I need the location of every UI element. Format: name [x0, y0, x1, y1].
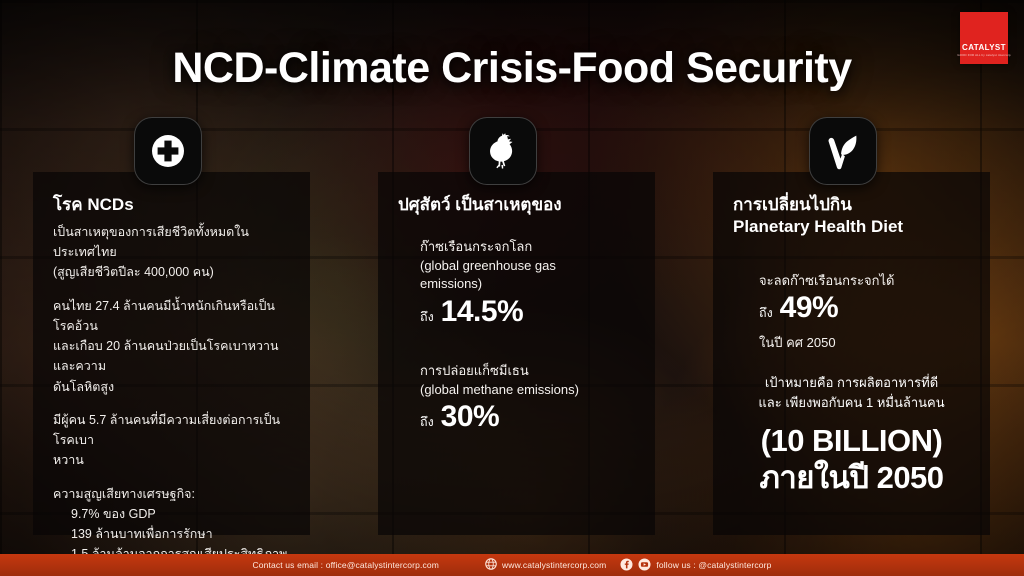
- reduction-year: ในปี คศ 2050: [759, 334, 970, 353]
- phd-heading: การเปลี่ยนไปกิน Planetary Health Diet: [733, 194, 970, 238]
- population-target: (10 BILLION) ภายในปี 2050: [733, 423, 970, 496]
- stat-emission-reduction: จะลดก๊าซเรือนกระจกได้ ถึง 49% ในปี คศ 20…: [733, 272, 970, 353]
- economic-loss-item-treatment: 139 ล้านบาทเพื่อการรักษา: [71, 524, 290, 544]
- vegan-leaf-icon: [823, 130, 863, 172]
- goal-line2: และ เพียงพอกับคน 1 หมื่นล้านคน: [733, 393, 970, 413]
- methane-prefix: ถึง: [420, 412, 434, 432]
- footer-website-text: www.catalystintercorp.com: [502, 560, 606, 570]
- youtube-icon[interactable]: [638, 558, 651, 573]
- footer-social[interactable]: follow us : @catalystintercorp: [620, 558, 771, 573]
- population-target-line2: ภายในปี 2050: [733, 460, 970, 497]
- economic-loss-label: ความสูญเสียทางเศรษฐกิจ:: [53, 484, 290, 504]
- ghg-label-line3: emissions): [420, 275, 635, 294]
- ncds-p1-line2: (สูญเสียชีวิตปีละ 400,000 คน): [53, 262, 290, 282]
- infographic-slide: CATALYST GOOD FOR ALL by catalyst interc…: [0, 0, 1024, 576]
- medical-cross-icon: [148, 131, 188, 171]
- stat-methane: การปล่อยแก็ซมีเธน (global methane emissi…: [398, 362, 635, 435]
- phd-heading-line1: การเปลี่ยนไปกิน: [733, 195, 852, 214]
- ncds-p2-line2: และเกือบ 20 ล้านคนป่วยเป็นโรคเบาหวานและค…: [53, 336, 290, 377]
- ncds-paragraph-3: มีผู้คน 5.7 ล้านคนที่มีความเสี่ยงต่อการเ…: [53, 410, 290, 471]
- methane-value: 30%: [441, 400, 500, 435]
- ghg-value: 14.5%: [441, 295, 524, 330]
- economic-loss-item-gdp: 9.7% ของ GDP: [71, 504, 290, 524]
- ncds-p2-line3: ดันโลหิตสูง: [53, 377, 290, 397]
- ncds-p2-line1: คนไทย 27.4 ล้านคนมีน้ำหนักเกินหรือเป็นโร…: [53, 296, 290, 337]
- ncds-paragraph-2: คนไทย 27.4 ล้านคนมีน้ำหนักเกินหรือเป็นโร…: [53, 296, 290, 397]
- footer-bar: Contact us email : office@catalystinterc…: [0, 554, 1024, 576]
- ncds-heading: โรค NCDs: [53, 194, 290, 216]
- ghg-label-line1: ก๊าซเรือนกระจกโลก: [420, 238, 635, 257]
- ncds-p3-line2: หวาน: [53, 450, 290, 470]
- population-target-line1: (10 BILLION): [733, 423, 970, 460]
- panel-livestock: ปศุสัตว์ เป็นสาเหตุของ ก๊าซเรือนกระจกโลก…: [378, 172, 655, 535]
- chicken-badge: [469, 117, 537, 185]
- footer-website[interactable]: www.catalystintercorp.com: [485, 558, 606, 572]
- panel-planetary-health-diet: การเปลี่ยนไปกิน Planetary Health Diet จะ…: [713, 172, 990, 535]
- footer-follow-text: follow us : @catalystintercorp: [656, 560, 771, 570]
- facebook-icon[interactable]: [620, 558, 633, 573]
- vegan-leaf-badge: [809, 117, 877, 185]
- reduction-value: 49%: [780, 291, 839, 326]
- livestock-heading: ปศุสัตว์ เป็นสาเหตุของ: [398, 194, 635, 216]
- methane-label-line1: การปล่อยแก็ซมีเธน: [420, 362, 635, 381]
- ncds-p1-line1: เป็นสาเหตุของการเสียชีวิตทั้งหมดในประเทศ…: [53, 222, 290, 263]
- ncds-p3-line1: มีผู้คน 5.7 ล้านคนที่มีความเสี่ยงต่อการเ…: [53, 410, 290, 451]
- reduction-label: จะลดก๊าซเรือนกระจกได้: [759, 272, 970, 291]
- ncds-paragraph-1: เป็นสาเหตุของการเสียชีวิตทั้งหมดในประเทศ…: [53, 222, 290, 283]
- phd-heading-line2: Planetary Health Diet: [733, 216, 970, 238]
- footer-email: Contact us email : office@catalystinterc…: [252, 560, 439, 570]
- stat-greenhouse-gas: ก๊าซเรือนกระจกโลก (global greenhouse gas…: [398, 238, 635, 330]
- page-title: NCD-Climate Crisis-Food Security: [0, 44, 1024, 93]
- goal-statement: เป้าหมายคือ การผลิตอาหารที่ดี และ เพียงพ…: [733, 373, 970, 413]
- goal-line1: เป้าหมายคือ การผลิตอาหารที่ดี: [733, 373, 970, 393]
- footer-email-text: Contact us email : office@catalystinterc…: [252, 560, 439, 570]
- ghg-label-line2: (global greenhouse gas: [420, 257, 635, 276]
- reduction-prefix: ถึง: [759, 303, 773, 323]
- chicken-icon: [483, 130, 523, 172]
- methane-label-line2: (global methane emissions): [420, 381, 635, 400]
- panel-ncds: โรค NCDs เป็นสาเหตุของการเสียชีวิตทั้งหม…: [33, 172, 310, 535]
- globe-icon: [485, 558, 497, 572]
- ghg-prefix: ถึง: [420, 307, 434, 327]
- medical-cross-badge: [134, 117, 202, 185]
